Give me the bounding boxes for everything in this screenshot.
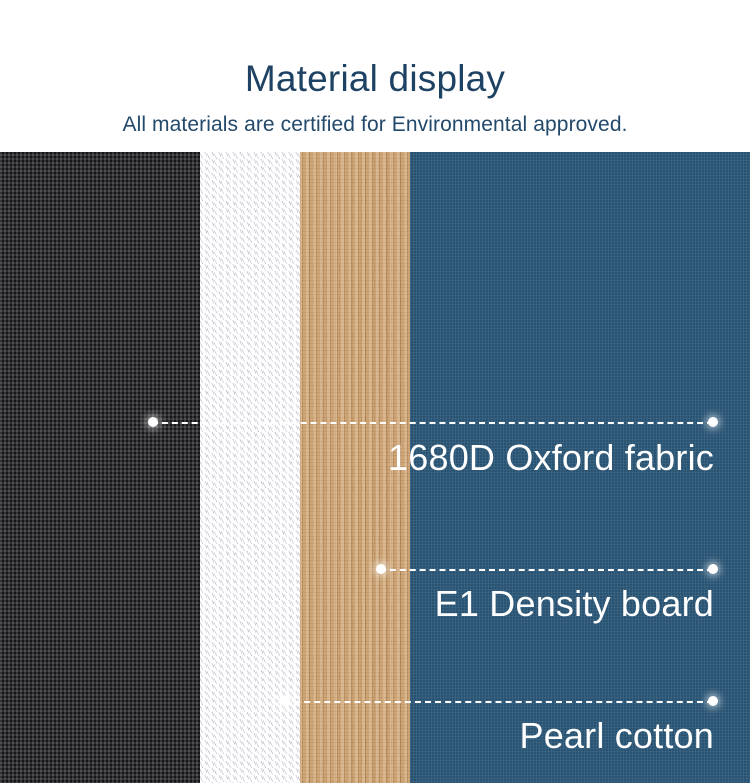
callout-end-dot-icon — [708, 696, 718, 706]
callout-end-dot-icon — [708, 564, 718, 574]
callout-dashed-line — [152, 422, 713, 424]
page-subtitle: All materials are certified for Environm… — [0, 110, 750, 140]
callout-start-dot-icon — [280, 696, 290, 706]
callout-label-oxford-fabric: 1680D Oxford fabric — [14, 436, 714, 480]
callout-start-dot-icon — [148, 417, 158, 427]
callout-start-dot-icon — [376, 564, 386, 574]
callout-dashed-line — [380, 569, 713, 571]
callout-dashed-line — [284, 701, 713, 703]
header: Material display All materials are certi… — [0, 0, 750, 152]
material-swatch-band: 1680D Oxford fabric E1 Density board Pea… — [0, 152, 750, 783]
material-display-page: Material display All materials are certi… — [0, 0, 750, 783]
callout-label-pearl-cotton: Pearl cotton — [14, 714, 714, 758]
page-title: Material display — [0, 57, 750, 101]
callout-label-density-board: E1 Density board — [14, 582, 714, 626]
callout-end-dot-icon — [708, 417, 718, 427]
